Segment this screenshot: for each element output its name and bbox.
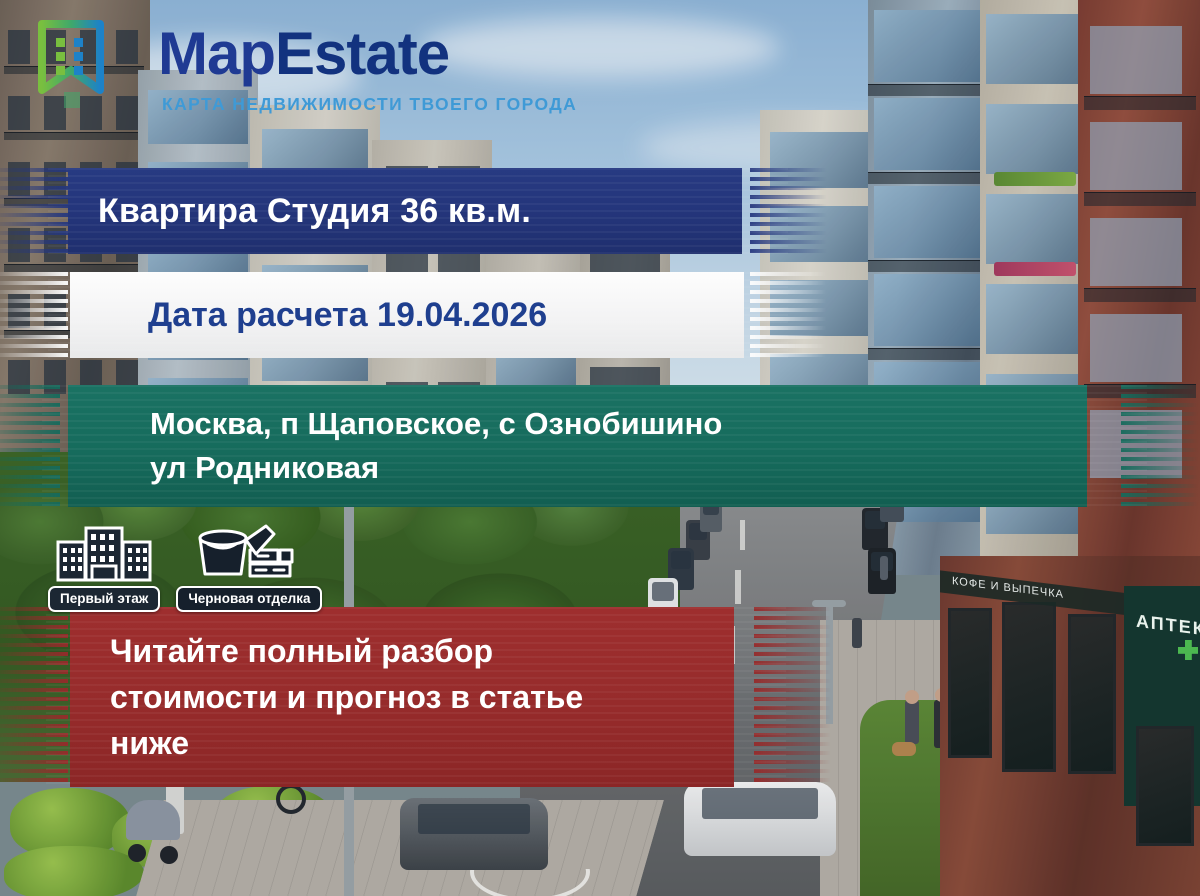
cta-text: Читайте полный разбор стоимости и прогно… [110,628,583,766]
feature-badges: Первый этаж Черновая отделка [48,524,322,612]
badge-label: Первый этаж [48,586,160,612]
address-line-2: ул Родниковая [150,446,722,490]
cta-banner: Читайте полный разбор стоимости и прогно… [46,607,786,787]
address-banner: Москва, п Щаповское, с Ознобишино ул Род… [42,385,1147,507]
map-pin-building-icon [38,20,104,112]
building-icon [52,526,156,584]
paint-bucket-trowel-bricks-icon [190,524,308,584]
poster-canvas: КОФЕ И ВЫПЕЧКА АПТЕКА [0,0,1200,896]
property-title: Квартира Студия 36 кв.м. [98,192,531,231]
address-line-1: Москва, п Щаповское, с Ознобишино [150,402,722,446]
brand-tagline: КАРТА НЕДВИЖИМОСТИ ТВОЕГО ГОРОДА [162,94,577,115]
brand-logo[interactable]: MapEstate КАРТА НЕДВИЖИМОСТИ ТВОЕГО ГОРО… [38,14,538,124]
brand-name: MapEstate [158,24,449,84]
badge-first-floor[interactable]: Первый этаж [48,526,160,612]
property-banner: Квартира Студия 36 кв.м. [48,168,788,254]
cta-line-3: ниже [110,720,583,766]
calculation-date: Дата расчета 19.04.2026 [148,296,547,335]
address-text: Москва, п Щаповское, с Ознобишино ул Род… [150,402,722,490]
brand-name-part2: Estate [275,20,449,87]
date-banner: Дата расчета 19.04.2026 [48,272,788,358]
cta-line-2: стоимости и прогноз в статье [110,674,583,720]
cta-line-1: Читайте полный разбор [110,628,583,674]
brand-name-part1: Map [158,20,275,87]
badge-label: Черновая отделка [176,586,322,612]
badge-rough-finish[interactable]: Черновая отделка [176,524,322,612]
